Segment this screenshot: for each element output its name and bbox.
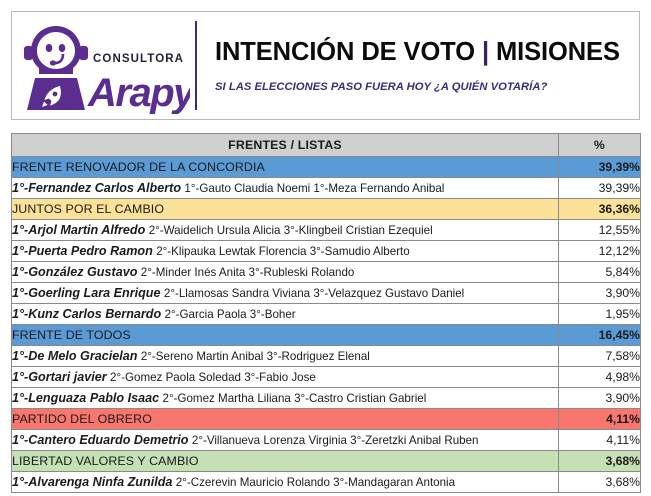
party-percent: 39,39% <box>559 157 641 178</box>
svg-text:Arapy: Arapy <box>87 71 190 114</box>
list-candidates: 1°-Fernandez Carlos Alberto 1°-Gauto Cla… <box>12 178 559 199</box>
candidate-rest: 2°-Klipauka Lewtak Florencia 3°-Samudio … <box>156 245 410 258</box>
candidate-rest: 2°-Czerevin Mauricio Rolando 3°-Mandagar… <box>176 476 455 489</box>
candidate-rest: 2°-Villanueva Lorenza Virginia 3°-Zeretz… <box>192 434 479 447</box>
party-percent: 36,36% <box>559 199 641 220</box>
list-percent: 12,12% <box>559 241 641 262</box>
candidate-first: 1°-Alvarenga Ninfa Zunilda <box>12 475 172 489</box>
list-candidates: 1°-De Melo Gracielan 2°-Sereno Martin An… <box>12 346 559 367</box>
results-table-body: FRENTE RENOVADOR DE LA CONCORDIA39,39%1°… <box>12 157 641 493</box>
list-percent: 12,55% <box>559 220 641 241</box>
candidate-first: 1°-Puerta Pedro Ramon <box>12 244 153 258</box>
title-part-2: MISIONES <box>496 38 620 66</box>
table-row-party: FRENTE DE TODOS16,45% <box>12 325 641 346</box>
list-percent: 39,39% <box>559 178 641 199</box>
table-row-list: 1°-Puerta Pedro Ramon 2°-Klipauka Lewtak… <box>12 241 641 262</box>
list-candidates: 1°-Goerling Lara Enrique 2°-Llamosas San… <box>12 283 559 304</box>
list-candidates: 1°-Lenguaza Pablo Isaac 2°-Gomez Martha … <box>12 388 559 409</box>
list-candidates: 1°-Puerta Pedro Ramon 2°-Klipauka Lewtak… <box>12 241 559 262</box>
table-row-list: 1°-Alvarenga Ninfa Zunilda 2°-Czerevin M… <box>12 472 641 493</box>
party-name: PARTIDO DEL OBRERO <box>12 409 559 430</box>
party-name: FRENTE DE TODOS <box>12 325 559 346</box>
candidate-rest: 2°-Minder Inés Anita 3°-Rubleski Rolando <box>141 266 355 279</box>
table-row-party: JUNTOS POR EL CAMBIO36,36% <box>12 199 641 220</box>
consultora-arapy-logo: CONSULTORA Arapy <box>12 12 195 119</box>
candidate-first: 1°-Arjol Martin Alfredo <box>12 223 145 237</box>
table-row-list: 1°-Cantero Eduardo Demetrio 2°-Villanuev… <box>12 430 641 451</box>
list-percent: 1,95% <box>559 304 641 325</box>
list-candidates: 1°-Alvarenga Ninfa Zunilda 2°-Czerevin M… <box>12 472 559 493</box>
party-percent: 4,11% <box>559 409 641 430</box>
list-percent: 3,90% <box>559 283 641 304</box>
svg-text:CONSULTORA: CONSULTORA <box>93 53 184 65</box>
list-candidates: 1°-Arjol Martin Alfredo 2°-Waidelich Urs… <box>12 220 559 241</box>
list-candidates: 1°-Cantero Eduardo Demetrio 2°-Villanuev… <box>12 430 559 451</box>
table-row-party: FRENTE RENOVADOR DE LA CONCORDIA39,39% <box>12 157 641 178</box>
party-name: FRENTE RENOVADOR DE LA CONCORDIA <box>12 157 559 178</box>
results-table: FRENTES / LISTAS % FRENTE RENOVADOR DE L… <box>11 133 641 493</box>
column-header-percent: % <box>559 134 641 157</box>
list-candidates: 1°-González Gustavo 2°-Minder Inés Anita… <box>12 262 559 283</box>
table-row-list: 1°-Goerling Lara Enrique 2°-Llamosas San… <box>12 283 641 304</box>
list-percent: 3,90% <box>559 388 641 409</box>
party-percent: 3,68% <box>559 451 641 472</box>
party-name: JUNTOS POR EL CAMBIO <box>12 199 559 220</box>
list-candidates: 1°-Gortari javier 2°-Gomez Paola Soledad… <box>12 367 559 388</box>
table-row-list: 1°-Arjol Martin Alfredo 2°-Waidelich Urs… <box>12 220 641 241</box>
page-subtitle: SI LAS ELECCIONES PASO FUERA HOY ¿A QUIÉ… <box>215 81 631 93</box>
candidate-first: 1°-Cantero Eduardo Demetrio <box>12 433 188 447</box>
table-row-list: 1°-De Melo Gracielan 2°-Sereno Martin An… <box>12 346 641 367</box>
candidate-rest: 2°-Gomez Martha Liliana 3°-Castro Cristi… <box>163 392 427 405</box>
candidate-first: 1°-Goerling Lara Enrique <box>12 286 161 300</box>
list-percent: 4,11% <box>559 430 641 451</box>
page-title: INTENCIÓN DE VOTO | MISIONES <box>215 38 631 66</box>
candidate-rest: 2°-Garcia Paola 3°-Boher <box>165 308 296 321</box>
candidate-rest: 1°-Gauto Claudia Noemi 1°-Meza Fernando … <box>184 182 444 195</box>
candidate-first: 1°-Lenguaza Pablo Isaac <box>12 391 159 405</box>
table-row-list: 1°-Lenguaza Pablo Isaac 2°-Gomez Martha … <box>12 388 641 409</box>
table-row-party: PARTIDO DEL OBRERO4,11% <box>12 409 641 430</box>
candidate-rest: 2°-Waidelich Ursula Alicia 3°-Klingbeil … <box>149 224 433 237</box>
candidate-rest: 2°-Sereno Martin Anibal 3°-Rodriguez Ele… <box>141 350 370 363</box>
candidate-rest: 2°-Llamosas Sandra Viviana 3°-Velazquez … <box>164 287 464 300</box>
party-percent: 16,45% <box>559 325 641 346</box>
party-name: LIBERTAD VALORES Y CAMBIO <box>12 451 559 472</box>
title-part-1: INTENCIÓN DE VOTO <box>215 38 475 66</box>
list-percent: 7,58% <box>559 346 641 367</box>
candidate-first: 1°-González Gustavo <box>12 265 137 279</box>
title-separator: | <box>482 38 489 66</box>
table-row-list: 1°-González Gustavo 2°-Minder Inés Anita… <box>12 262 641 283</box>
candidate-first: 1°-Kunz Carlos Bernardo <box>12 307 161 321</box>
poll-results-page: CONSULTORA Arapy INTENCIÓN DE VOTO | MIS… <box>0 0 651 496</box>
list-candidates: 1°-Kunz Carlos Bernardo 2°-Garcia Paola … <box>12 304 559 325</box>
candidate-rest: 2°-Gomez Paola Soledad 3°-Fabio Jose <box>110 371 316 384</box>
candidate-first: 1°-De Melo Gracielan <box>12 349 137 363</box>
list-percent: 5,84% <box>559 262 641 283</box>
candidate-first: 1°-Gortari javier <box>12 370 107 384</box>
table-row-list: 1°-Kunz Carlos Bernardo 2°-Garcia Paola … <box>12 304 641 325</box>
column-header-frentes-listas: FRENTES / LISTAS <box>12 134 559 157</box>
table-header-row: FRENTES / LISTAS % <box>12 134 641 157</box>
arapy-logo-graphic: CONSULTORA Arapy <box>18 18 190 114</box>
table-row-list: 1°-Fernandez Carlos Alberto 1°-Gauto Cla… <box>12 178 641 199</box>
header-banner: CONSULTORA Arapy INTENCIÓN DE VOTO | MIS… <box>11 11 640 120</box>
list-percent: 3,68% <box>559 472 641 493</box>
list-percent: 4,98% <box>559 367 641 388</box>
table-row-list: 1°-Gortari javier 2°-Gomez Paola Soledad… <box>12 367 641 388</box>
header-text-block: INTENCIÓN DE VOTO | MISIONES SI LAS ELEC… <box>197 12 639 119</box>
table-row-party: LIBERTAD VALORES Y CAMBIO3,68% <box>12 451 641 472</box>
candidate-first: 1°-Fernandez Carlos Alberto <box>12 181 181 195</box>
